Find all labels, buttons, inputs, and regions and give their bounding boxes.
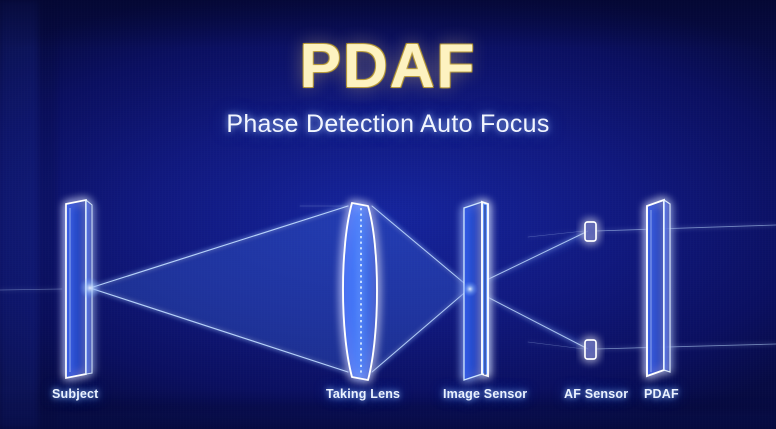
page-title: PDAF [0,36,776,98]
label-pdaf: PDAF [644,387,679,401]
light-cone-group [90,206,592,372]
label-subject: Subject [52,387,99,401]
ray-af-upper-to-pdaf [596,225,776,231]
af-sensor-lower-cell [585,340,596,359]
image-sensor-focus-hotspot [462,281,478,297]
taking-lens [343,203,377,380]
pdaf-slide: PDAF Phase Detection Auto Focus Subject … [0,0,776,429]
pdaf-plate [647,200,670,376]
pdaf-plate-face [647,200,664,376]
ray-af-lower-to-pdaf [596,344,776,349]
af-sensor-upper [585,222,596,241]
af-sensor-upper-cell [585,222,596,241]
page-subtitle: Phase Detection Auto Focus [0,110,776,139]
label-image-sensor: Image Sensor [443,387,527,401]
taking-lens-body [343,203,377,380]
pdaf-plate-side [664,200,670,372]
subject-source-hotspot [79,277,101,299]
label-taking-lens: Taking Lens [326,387,400,401]
ray-left-axis [0,289,62,290]
cone-lens-to-sensor [374,206,470,372]
cone-subject-to-lens [90,206,346,372]
af-sensor-lower [585,340,596,359]
label-af-sensor: AF Sensor [564,387,628,401]
